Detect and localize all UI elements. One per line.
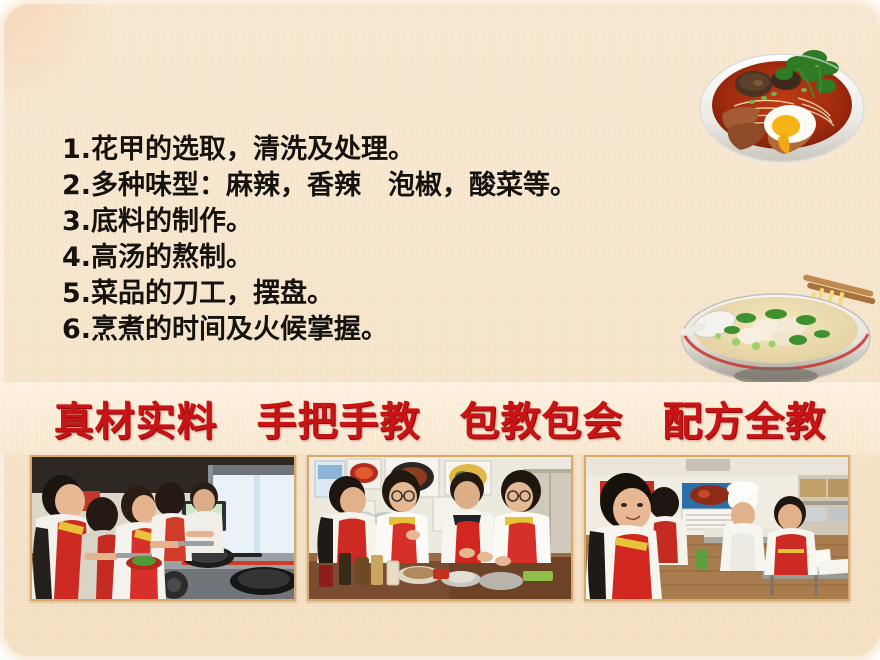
spicy-noodle-bowl-photo — [694, 28, 870, 168]
list-item: 2.多种味型：麻辣，香辣 泡椒，酸菜等。 — [62, 168, 682, 204]
list-item-number: 3. — [62, 206, 91, 237]
course-outline-list: 1.花甲的选取，清洗及处理。 2.多种味型：麻辣，香辣 泡椒，酸菜等。 3.底料… — [62, 132, 682, 348]
list-item-label: 高汤的熬制。 — [91, 242, 253, 273]
list-item-label: 烹煮的时间及火候掌握。 — [91, 314, 388, 345]
list-item-label: 底料的制作。 — [91, 206, 253, 237]
slogan-phrase: 手把手教 — [257, 399, 421, 445]
list-item: 6.烹煮的时间及火候掌握。 — [62, 312, 682, 348]
slogan-banner-text: 真材实料 手把手教 包教包会 配方全教 — [42, 389, 839, 447]
classroom-lecture-photo — [584, 455, 850, 601]
list-item: 4.高汤的熬制。 — [62, 240, 682, 276]
list-item-number: 5. — [62, 278, 91, 309]
list-item-number: 6. — [62, 314, 91, 345]
list-item-number: 1. — [62, 134, 91, 165]
slogan-phrase: 配方全教 — [662, 399, 826, 445]
list-item: 5.菜品的刀工，摆盘。 — [62, 276, 682, 312]
slogan-banner: 真材实料 手把手教 包教包会 配方全教 — [0, 382, 880, 454]
clear-broth-noodle-bowl-photo — [672, 268, 880, 390]
list-item-label: 多种味型：麻辣，香辣 泡椒，酸菜等。 — [91, 170, 577, 201]
slogan-phrase: 真材实料 — [54, 399, 218, 445]
list-item-label: 菜品的刀工，摆盘。 — [91, 278, 334, 309]
slogan-phrase: 包教包会 — [459, 399, 623, 445]
list-item: 3.底料的制作。 — [62, 204, 682, 240]
photo-gallery — [30, 455, 850, 601]
classroom-wok-stations-photo — [30, 455, 296, 601]
list-item: 1.花甲的选取，清洗及处理。 — [62, 132, 682, 168]
list-item-label: 花甲的选取，清洗及处理。 — [91, 134, 415, 165]
list-item-number: 2. — [62, 170, 91, 201]
classroom-prep-table-photo — [307, 455, 573, 601]
list-item-number: 4. — [62, 242, 91, 273]
slide-root: 1.花甲的选取，清洗及处理。 2.多种味型：麻辣，香辣 泡椒，酸菜等。 3.底料… — [0, 0, 880, 660]
panel-corner-glow — [4, 4, 124, 114]
